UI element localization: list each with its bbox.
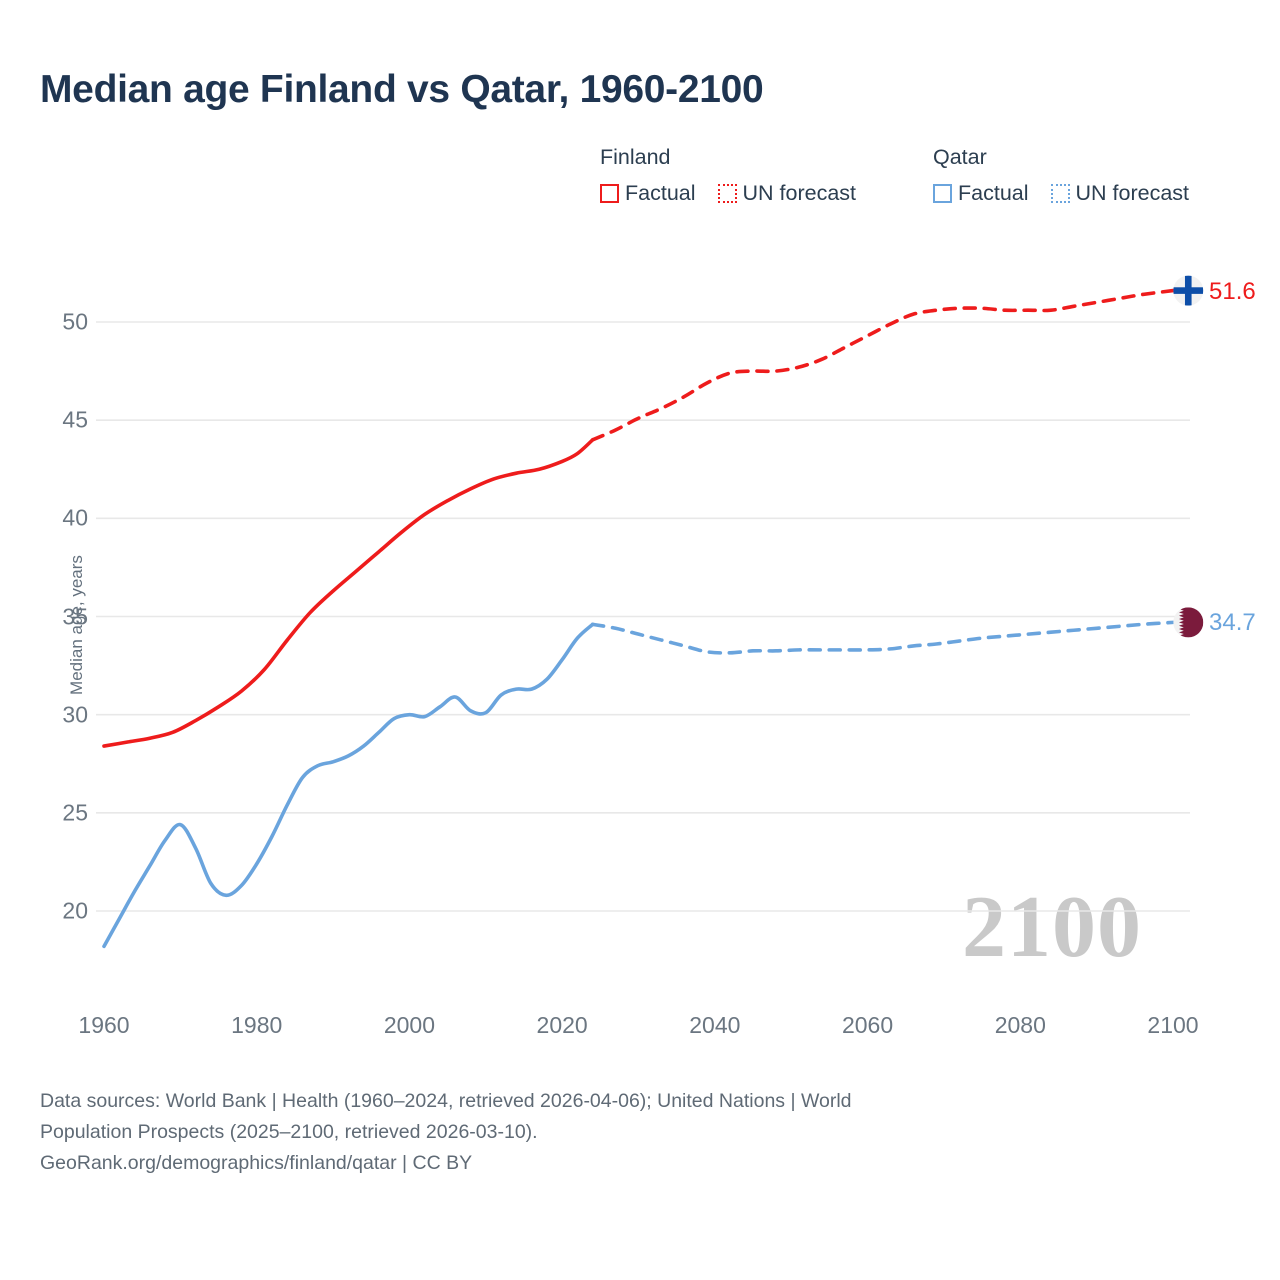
end-label-finland: 51.6 xyxy=(1209,278,1256,306)
series-line-finland-factual xyxy=(104,440,593,746)
footer-sources: Data sources: World Bank | Health (1960–… xyxy=(40,1086,1180,1179)
footer-line-1: Data sources: World Bank | Health (1960–… xyxy=(40,1086,1180,1117)
plot-area: Median age, years 20253035404550 1960198… xyxy=(0,0,1280,1060)
series-line-finland-forecast xyxy=(593,291,1173,440)
end-label-qatar: 34.7 xyxy=(1209,609,1256,637)
chart-page: Median age Finland vs Qatar, 1960-2100 F… xyxy=(0,0,1280,1280)
chart-canvas xyxy=(0,0,1280,1060)
series-lines xyxy=(104,291,1173,947)
finland-flag-icon xyxy=(1173,276,1203,306)
qatar-flag-icon xyxy=(1173,607,1203,637)
series-end-markers xyxy=(1173,276,1203,638)
series-line-qatar-factual xyxy=(104,624,593,946)
footer-line-2: Population Prospects (2025–2100, retriev… xyxy=(40,1117,1180,1148)
footer-line-3[interactable]: GeoRank.org/demographics/finland/qatar |… xyxy=(40,1148,1180,1179)
series-line-qatar-forecast xyxy=(593,622,1173,653)
gridlines xyxy=(96,322,1190,911)
